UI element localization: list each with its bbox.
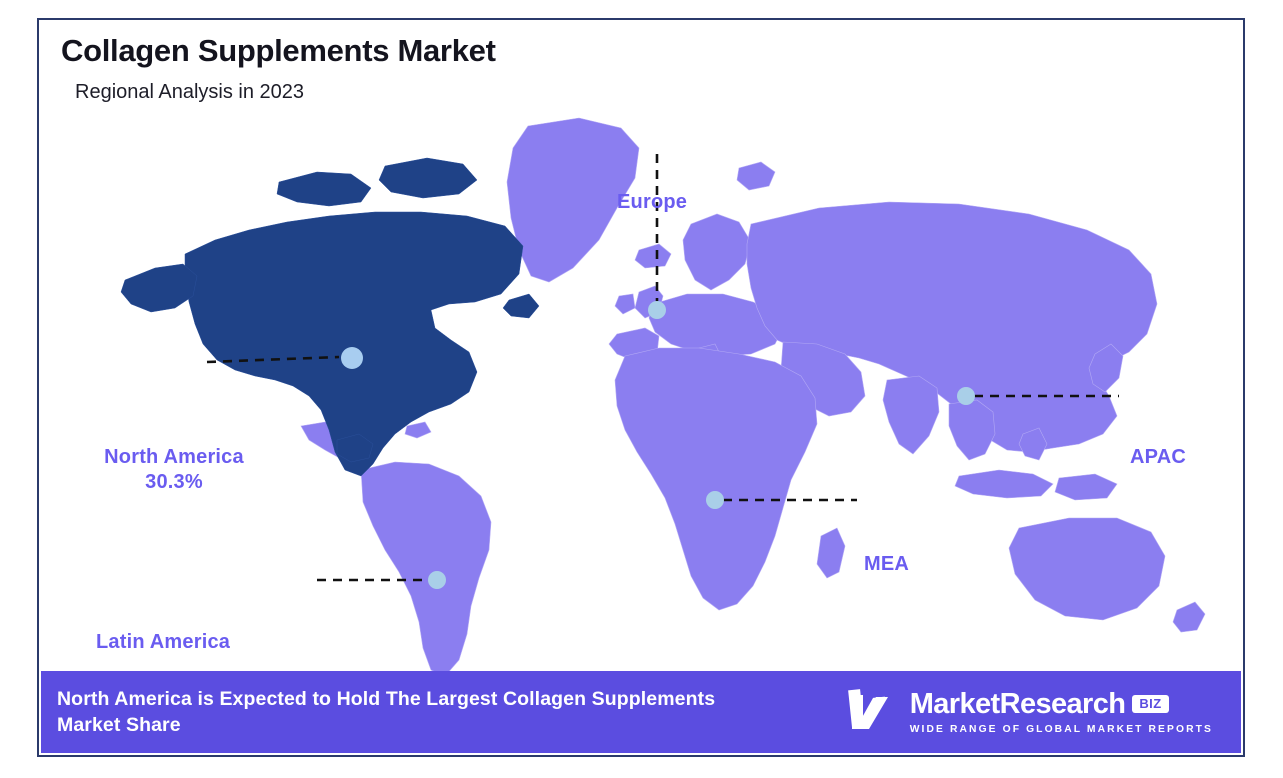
region-iceland (635, 244, 671, 268)
map-label-north-america: North America 30.3% (69, 445, 279, 495)
region-indonesia-1 (955, 470, 1053, 498)
region-caribbean-2 (405, 422, 431, 438)
logo-name-row: MarketResearch BIZ (910, 690, 1213, 719)
region-canadian-arctic-2 (379, 158, 477, 198)
marker-north-america (341, 347, 363, 369)
map-label-latin-america: Latin America (96, 630, 230, 655)
region-ireland (615, 294, 635, 314)
map-label-mea: MEA (864, 552, 909, 577)
logo-text: MarketResearch BIZ WIDE RANGE OF GLOBAL … (910, 690, 1213, 735)
logo-badge-biz: BIZ (1132, 695, 1168, 712)
region-scandinavia (683, 214, 751, 290)
marker-latin-america (428, 571, 446, 589)
logo-tagline: WIDE RANGE OF GLOBAL MARKET REPORTS (910, 724, 1213, 735)
region-indonesia-2 (1055, 474, 1117, 500)
marker-mea (706, 491, 724, 509)
checkmark-shield-icon (846, 685, 898, 739)
region-southeast-asia (949, 400, 995, 460)
banner-headline: North America is Expected to Hold The La… (57, 686, 757, 739)
header: Collagen Supplements Market Regional Ana… (39, 20, 1243, 103)
region-alaska (121, 264, 197, 312)
marker-europe (648, 301, 666, 319)
logo-name: MarketResearch (910, 690, 1126, 719)
region-svalbard (737, 162, 775, 190)
infographic-card: Collagen Supplements Market Regional Ana… (37, 18, 1245, 757)
marketresearch-logo: MarketResearch BIZ WIDE RANGE OF GLOBAL … (846, 685, 1213, 739)
region-madagascar (817, 528, 845, 578)
map-label-europe: Europe (617, 190, 687, 215)
region-australia (1009, 518, 1165, 620)
world-map: North America 30.3% Europe APAC MEA Lati… (39, 104, 1243, 674)
region-south-america (361, 462, 491, 674)
bottom-banner: North America is Expected to Hold The La… (41, 671, 1241, 753)
map-label-apac: APAC (1130, 445, 1186, 470)
region-india (883, 376, 939, 454)
page-title: Collagen Supplements Market (61, 34, 1243, 69)
marker-apac (957, 387, 975, 405)
region-new-zealand (1173, 602, 1205, 632)
region-africa (615, 348, 817, 610)
map-regions-highlighted (121, 158, 539, 476)
page-subtitle: Regional Analysis in 2023 (75, 81, 1243, 103)
region-canadian-arctic-1 (277, 172, 371, 206)
region-newfoundland (503, 294, 539, 318)
